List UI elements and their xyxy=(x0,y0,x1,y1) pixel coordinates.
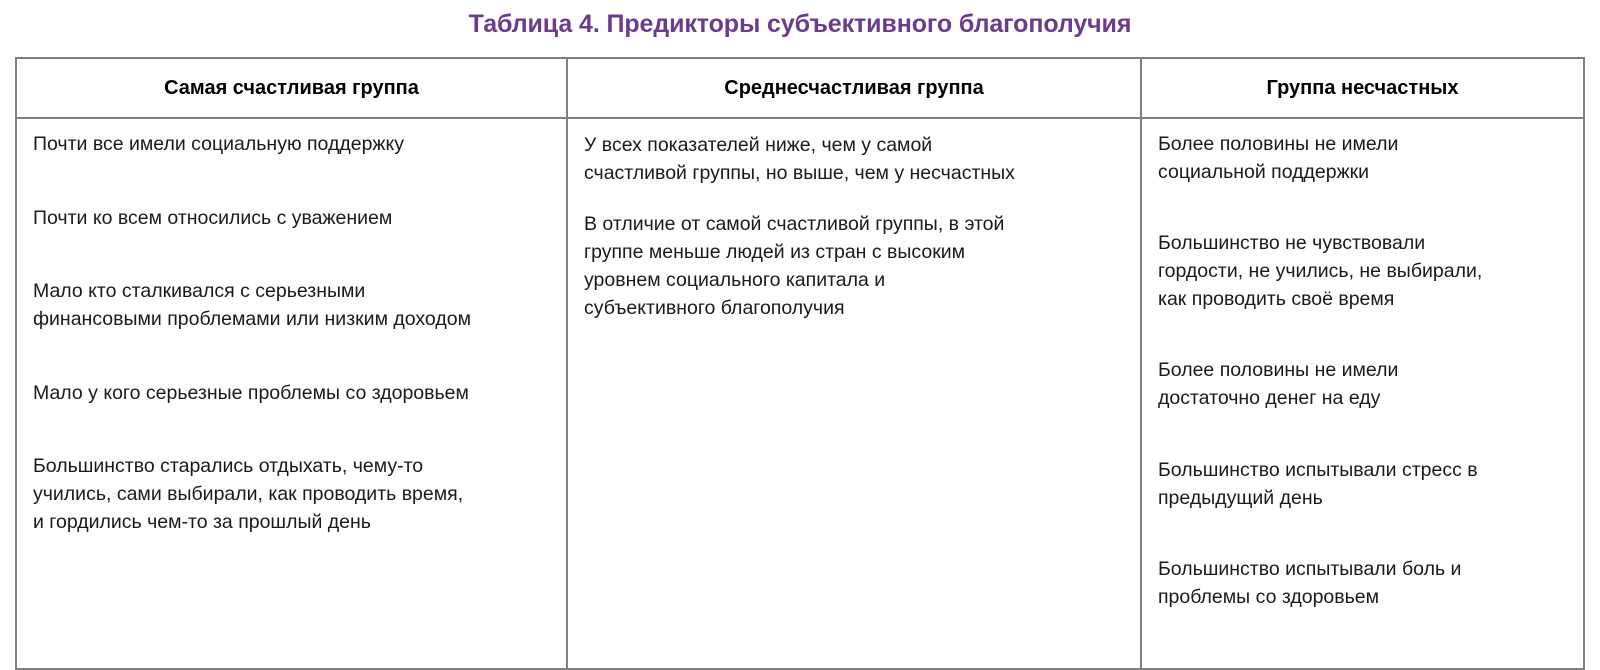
table-container: Самая счастливая группа Среднесчастливая… xyxy=(15,57,1583,670)
list-item: Почти ко всем относились с уважением xyxy=(33,205,552,233)
predictors-table: Самая счастливая группа Среднесчастливая… xyxy=(15,57,1585,670)
list-item: Более половины не имели социальной подде… xyxy=(1158,131,1569,186)
column-header-middle: Среднесчастливая группа xyxy=(567,58,1141,118)
list-item: В отличие от самой счастливой группы, в … xyxy=(584,210,1126,323)
list-item: Мало кто сталкивался с серьезными финанс… xyxy=(33,278,552,333)
list-item: Более половины не имели достаточно денег… xyxy=(1158,357,1569,412)
list-item: Почти все имели социальную поддержку xyxy=(33,131,552,159)
list-item: Большинство испытывали боль и проблемы с… xyxy=(1158,556,1569,611)
item-list-middle: У всех показателей ниже, чем у самой сча… xyxy=(584,131,1126,323)
list-item: У всех показателей ниже, чем у самой сча… xyxy=(584,131,1126,188)
list-item: Мало у кого серьезные проблемы со здоров… xyxy=(33,380,552,408)
page-title: Таблица 4. Предикторы субъективного благ… xyxy=(0,0,1600,39)
cell-happiest-group: Почти все имели социальную поддержку Поч… xyxy=(16,118,567,669)
list-item: Большинство испытывали стресс в предыдущ… xyxy=(1158,457,1569,512)
cell-unhappy-group: Более половины не имели социальной подде… xyxy=(1141,118,1584,669)
page-root: Таблица 4. Предикторы субъективного благ… xyxy=(0,0,1600,630)
list-item: Большинство не чувствовали гордости, не … xyxy=(1158,230,1569,313)
cell-middle-group: У всех показателей ниже, чем у самой сча… xyxy=(567,118,1141,669)
item-list-happiest: Почти все имели социальную поддержку Поч… xyxy=(33,131,552,537)
column-header-unhappy: Группа несчастных xyxy=(1141,58,1584,118)
list-item: Большинство старались отдыхать, чему-то … xyxy=(33,453,552,536)
item-list-unhappy: Более половины не имели социальной подде… xyxy=(1158,131,1569,612)
column-header-happiest: Самая счастливая группа xyxy=(16,58,567,118)
table-body: Почти все имели социальную поддержку Поч… xyxy=(16,118,1584,669)
table-row: Почти все имели социальную поддержку Поч… xyxy=(16,118,1584,669)
table-header-row: Самая счастливая группа Среднесчастливая… xyxy=(16,58,1584,118)
table-header-row-group: Самая счастливая группа Среднесчастливая… xyxy=(16,58,1584,118)
